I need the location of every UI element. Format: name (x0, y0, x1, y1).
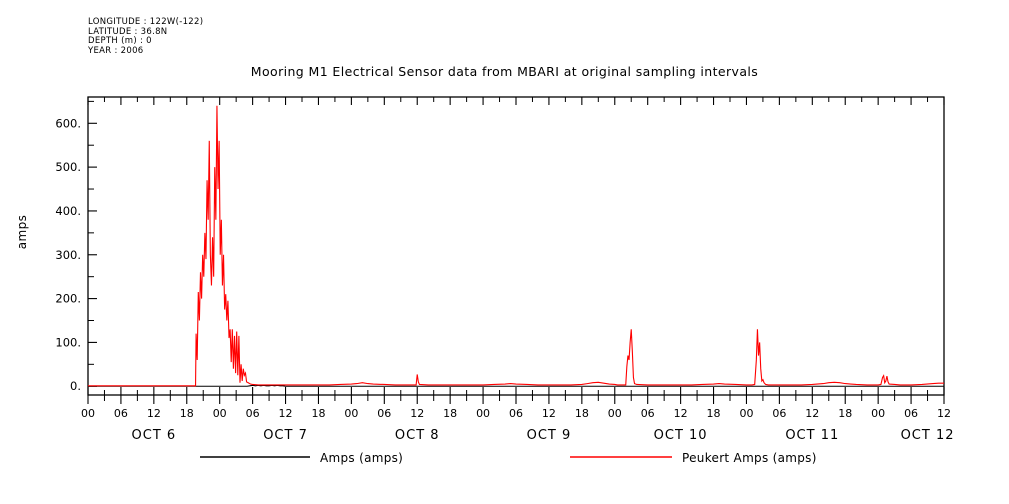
x-tick-label: 00 (608, 407, 622, 420)
x-tick-label: 00 (871, 407, 885, 420)
x-tick-label: 12 (542, 407, 556, 420)
x-tick-label: 18 (575, 407, 589, 420)
x-day-label: OCT 11 (785, 428, 839, 443)
x-tick-label: 12 (805, 407, 819, 420)
x-tick-label: 12 (410, 407, 424, 420)
x-tick-label: 18 (443, 407, 457, 420)
y-tick-label: 400. (55, 204, 81, 218)
x-tick-label: 12 (279, 407, 293, 420)
y-tick-label: 300. (55, 248, 81, 262)
data-series-amps (88, 385, 944, 386)
y-tick-label: 200. (55, 292, 81, 306)
x-day-label: OCT 7 (263, 428, 308, 443)
axes-group: 0.100.200.300.400.500.600.00061218000612… (55, 97, 954, 443)
x-tick-label: 00 (81, 407, 95, 420)
x-tick-label: 18 (838, 407, 852, 420)
x-tick-label: 06 (641, 407, 655, 420)
chart-plot-area: 0.100.200.300.400.500.600.00061218000612… (0, 0, 1009, 504)
x-tick-label: 06 (246, 407, 260, 420)
x-day-label: OCT 8 (395, 428, 440, 443)
x-tick-label: 06 (904, 407, 918, 420)
data-series-peukert-amps (88, 106, 944, 386)
legend-label-peukert-amps: Peukert Amps (amps) (682, 451, 817, 465)
data-series-group (88, 106, 944, 386)
x-tick-label: 00 (344, 407, 358, 420)
y-tick-label: 0. (70, 379, 81, 393)
y-tick-label: 600. (55, 116, 81, 130)
x-tick-label: 06 (114, 407, 128, 420)
x-tick-label: 18 (180, 407, 194, 420)
x-tick-label: 12 (937, 407, 951, 420)
chart-page: LONGITUDE : 122W(-122) LATITUDE : 36.8N … (0, 0, 1009, 504)
y-tick-label: 500. (55, 160, 81, 174)
x-day-label: OCT 9 (527, 428, 572, 443)
x-tick-label: 12 (147, 407, 161, 420)
x-day-label: OCT 12 (901, 428, 955, 443)
x-tick-label: 06 (377, 407, 391, 420)
x-tick-label: 00 (476, 407, 490, 420)
x-tick-label: 18 (707, 407, 721, 420)
x-tick-label: 06 (772, 407, 786, 420)
x-day-label: OCT 6 (132, 428, 177, 443)
x-tick-label: 12 (674, 407, 688, 420)
x-day-label: OCT 10 (654, 428, 708, 443)
x-tick-label: 06 (509, 407, 523, 420)
x-tick-label: 00 (739, 407, 753, 420)
y-tick-label: 100. (55, 335, 81, 349)
legend-label-amps: Amps (amps) (320, 451, 403, 465)
x-tick-label: 18 (311, 407, 325, 420)
chart-legend: Amps (amps)Peukert Amps (amps) (200, 451, 817, 465)
x-tick-label: 00 (213, 407, 227, 420)
